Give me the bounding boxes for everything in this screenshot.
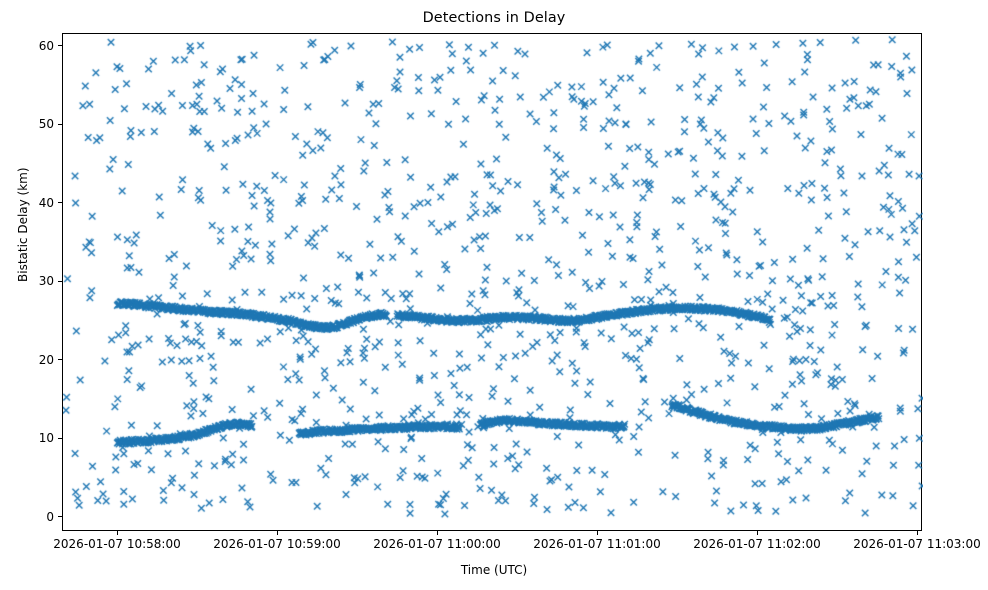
page-title: Detections in Delay [0,10,988,26]
plot-axes [62,33,922,531]
x-tick-label: 2026-01-07 10:59:00 [213,537,340,551]
x-tick-label: 2026-01-07 11:02:00 [693,537,820,551]
figure: Detections in Delay 01020304050602026-01… [0,0,988,590]
x-tick-label: 2026-01-07 11:01:00 [533,537,660,551]
x-tick-label: 2026-01-07 11:00:00 [373,537,500,551]
y-tick-label: 0 [0,510,54,524]
x-tick-label: 2026-01-07 10:58:00 [53,537,180,551]
x-axis-label: Time (UTC) [0,563,988,577]
y-axis-label: Bistatic Delay (km) [16,167,30,282]
y-tick-label: 50 [0,117,54,131]
scatter-plot-canvas [63,34,923,532]
y-tick-label: 60 [0,39,54,53]
y-tick-label: 20 [0,353,54,367]
x-tick-label: 2026-01-07 11:03:00 [853,537,980,551]
y-tick-label: 10 [0,431,54,445]
